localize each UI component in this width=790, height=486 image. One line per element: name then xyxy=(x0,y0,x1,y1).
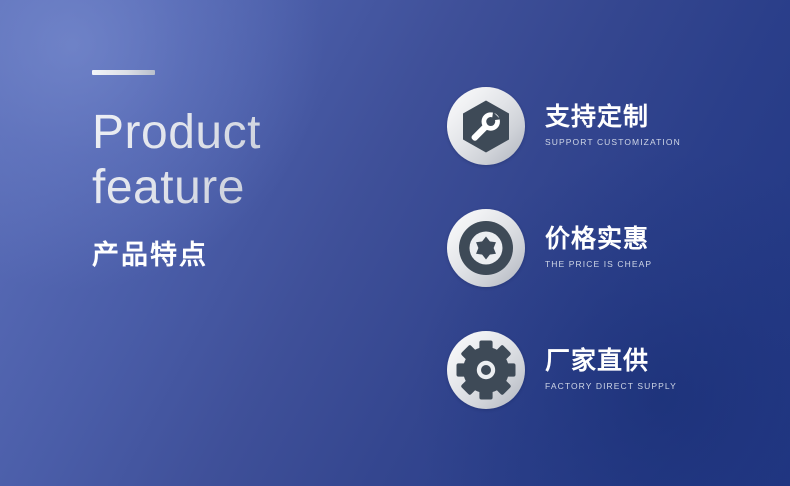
feature-item-support-customization: 支持定制 SUPPORT CUSTOMIZATION xyxy=(447,86,681,165)
product-feature-banner: Product feature 产品特点 xyxy=(0,0,790,486)
feature-item-factory-direct: 厂家直供 FACTORY DIRECT SUPPLY xyxy=(447,330,681,409)
title-block: Product feature 产品特点 xyxy=(92,70,422,272)
feature-text-block: 支持定制 SUPPORT CUSTOMIZATION xyxy=(545,102,681,149)
page-title-chinese: 产品特点 xyxy=(92,233,422,272)
feature-icon-plate xyxy=(447,331,525,409)
page-title-english: Product feature xyxy=(92,105,422,215)
feature-title: 支持定制 xyxy=(545,102,681,132)
feature-subtitle: SUPPORT CUSTOMIZATION xyxy=(545,137,681,147)
feature-icon-plate xyxy=(447,87,525,165)
page-title-english-line2: feature xyxy=(92,160,422,215)
feature-text-block: 厂家直供 FACTORY DIRECT SUPPLY xyxy=(545,346,677,393)
feature-subtitle: FACTORY DIRECT SUPPLY xyxy=(545,381,677,391)
gear-icon xyxy=(447,331,525,409)
feature-title: 价格实惠 xyxy=(545,224,652,254)
feature-list: 支持定制 SUPPORT CUSTOMIZATION xyxy=(447,86,681,409)
accent-bar xyxy=(92,70,155,75)
page-title-english-line1: Product xyxy=(92,106,261,159)
wrench-hexagon-icon xyxy=(447,87,525,165)
feature-subtitle: THE PRICE IS CHEAP xyxy=(545,259,652,269)
feature-title: 厂家直供 xyxy=(545,346,677,376)
feature-item-price-cheap: 价格实惠 THE PRICE IS CHEAP xyxy=(447,208,681,287)
tire-wheel-icon xyxy=(447,209,525,287)
feature-icon-plate xyxy=(447,209,525,287)
feature-text-block: 价格实惠 THE PRICE IS CHEAP xyxy=(545,224,652,271)
